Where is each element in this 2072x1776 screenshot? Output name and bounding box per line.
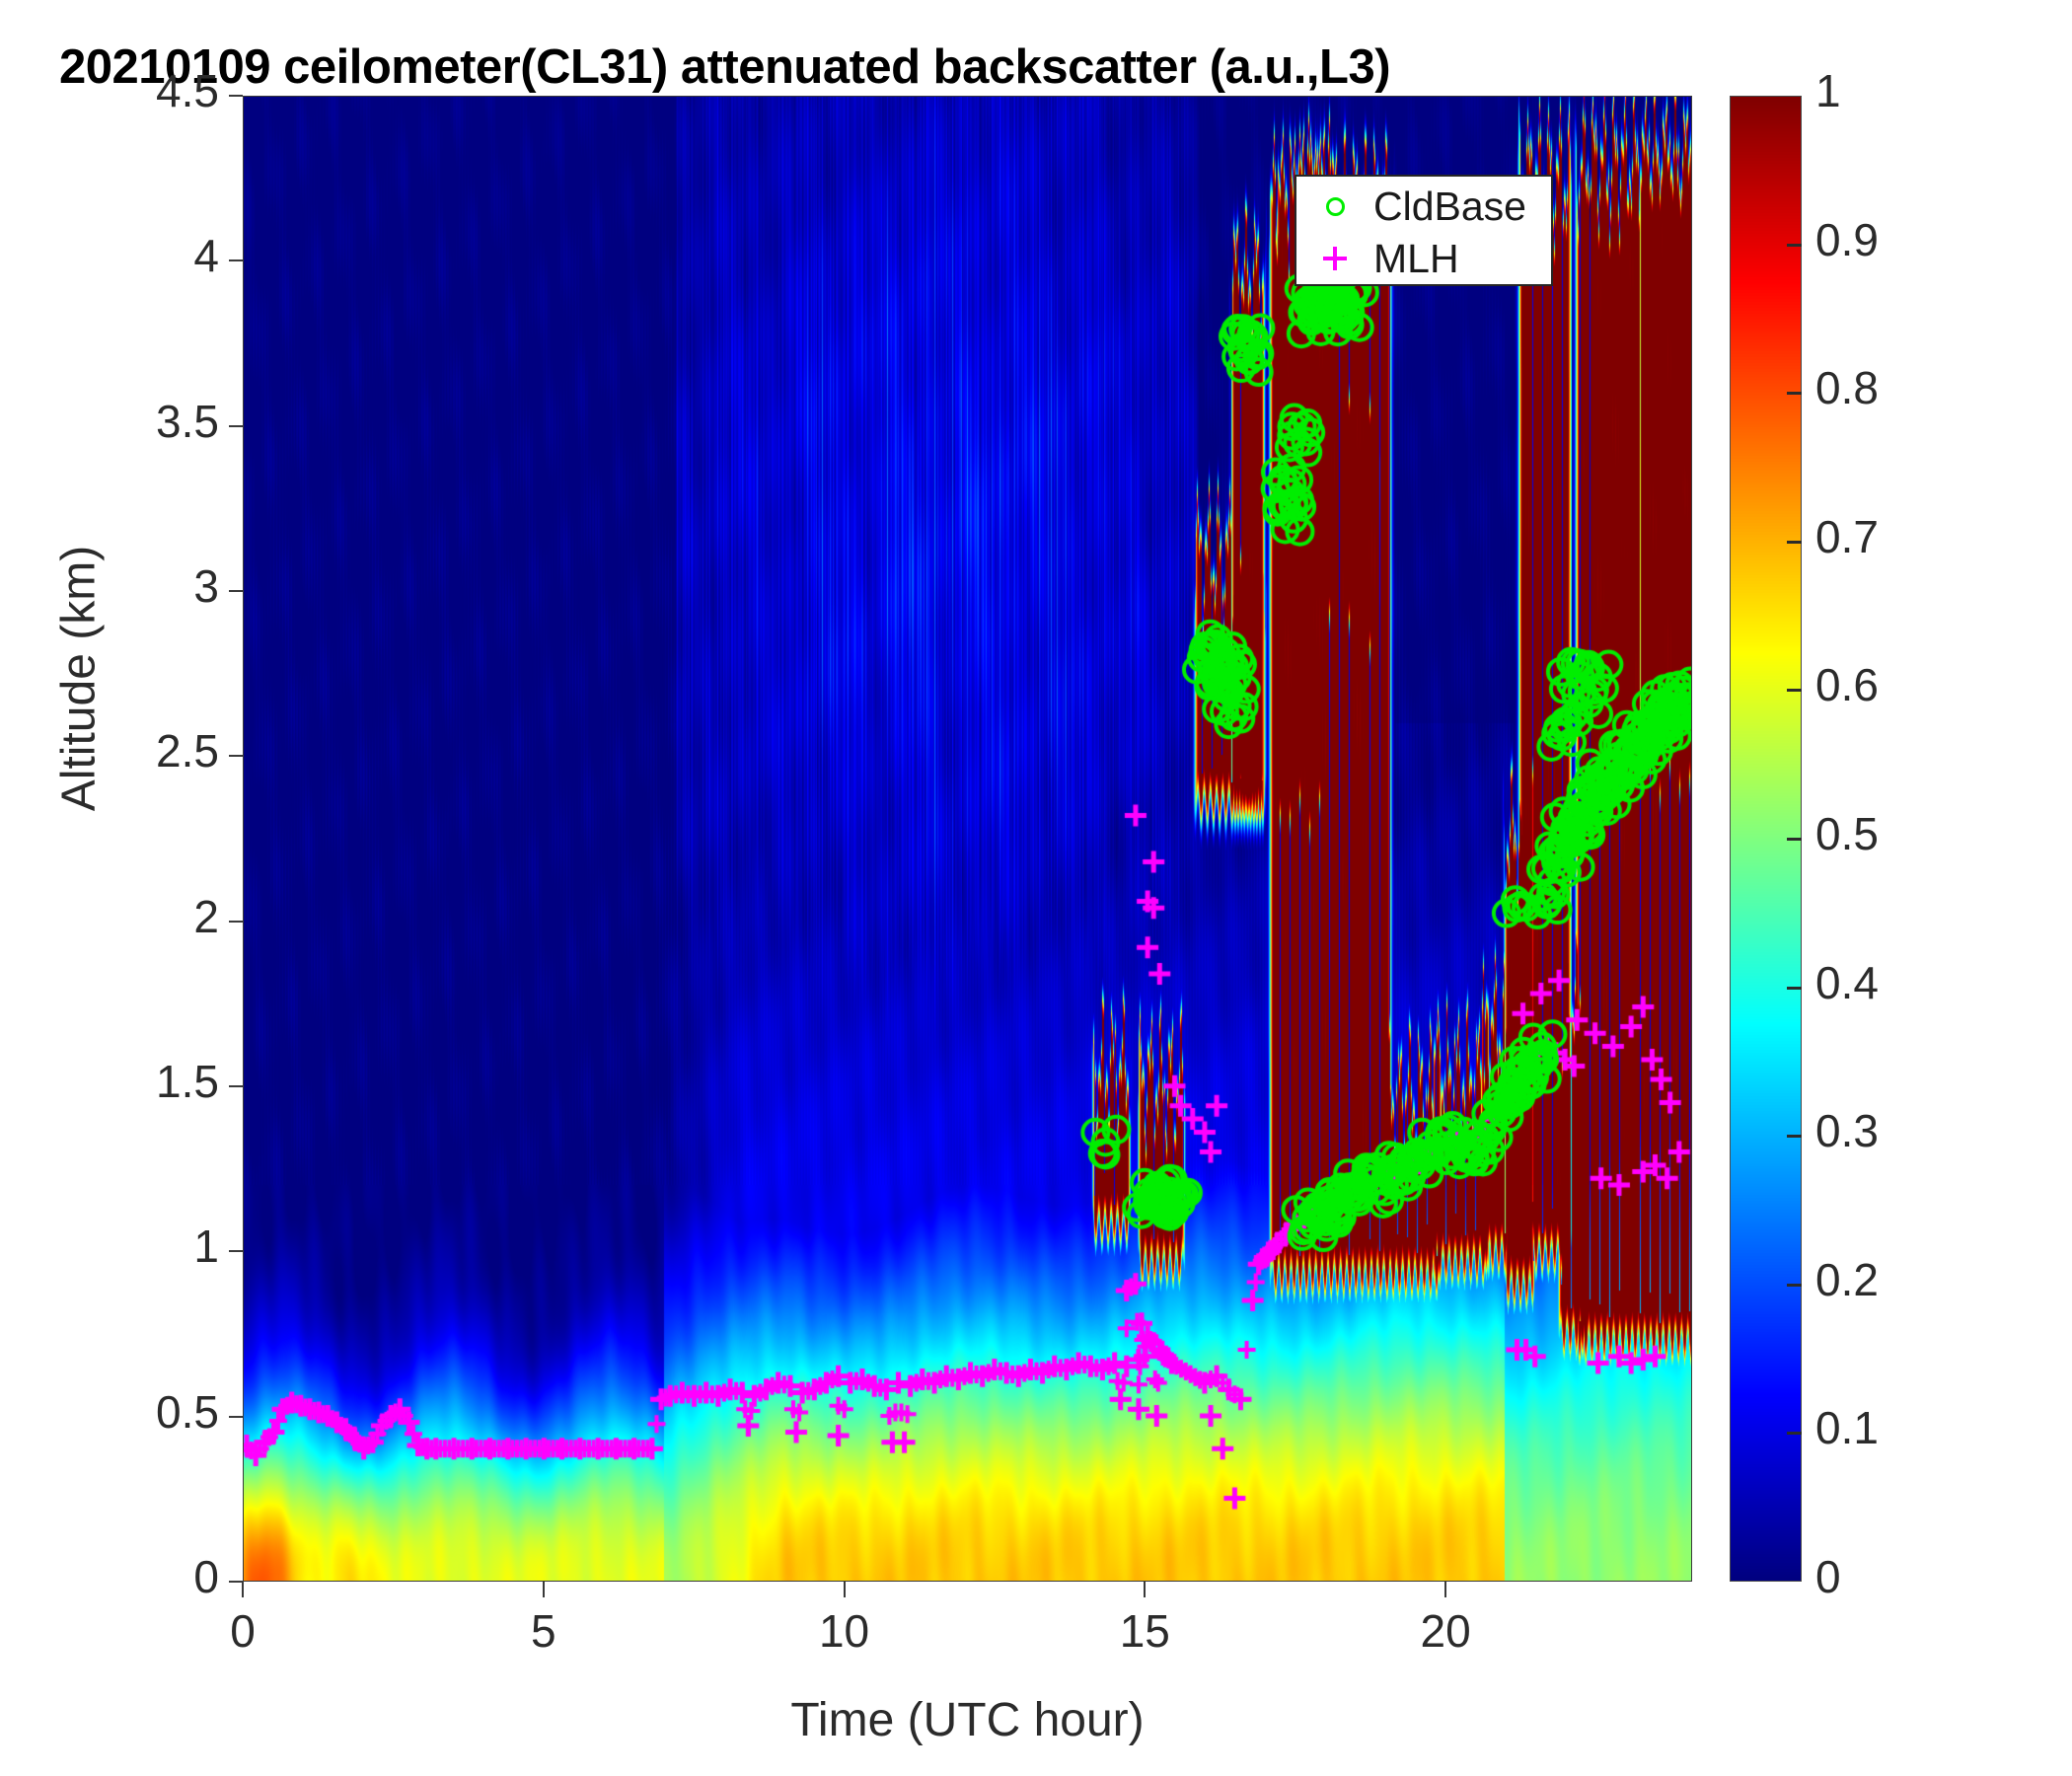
legend-item-mlh: MLH — [1296, 231, 1551, 286]
x-tick-label: 20 — [1367, 1604, 1524, 1658]
y-tick-label: 1 — [22, 1220, 219, 1273]
colorbar-tick-label: 0.3 — [1815, 1104, 1879, 1157]
y-tick-mark — [229, 1250, 243, 1252]
x-tick-mark — [543, 1582, 545, 1597]
mlh-marker-icon — [1296, 247, 1373, 270]
y-tick-mark — [229, 1581, 243, 1583]
colorbar-tick-label: 1 — [1815, 64, 1841, 117]
y-tick-mark — [229, 259, 243, 261]
x-tick-label: 10 — [766, 1604, 924, 1658]
legend-label-cldbase: CldBase — [1373, 184, 1526, 230]
y-tick-mark — [229, 1416, 243, 1418]
cldbase-mlh-overlay — [244, 97, 1691, 1581]
colorbar-tick-mark — [1787, 1135, 1802, 1138]
y-tick-mark — [229, 590, 243, 592]
x-tick-label: 15 — [1066, 1604, 1223, 1658]
y-tick-label: 0.5 — [22, 1385, 219, 1439]
x-tick-mark — [242, 1582, 244, 1597]
y-tick-mark — [229, 425, 243, 427]
y-tick-label: 4.5 — [22, 64, 219, 117]
x-tick-label: 5 — [465, 1604, 623, 1658]
y-tick-label: 1.5 — [22, 1055, 219, 1108]
colorbar-tick-mark — [1787, 1284, 1802, 1287]
x-axis-label: Time (UTC hour) — [243, 1693, 1692, 1747]
y-tick-mark — [229, 755, 243, 757]
x-tick-mark — [1144, 1582, 1146, 1597]
y-tick-label: 4 — [22, 229, 219, 282]
legend-item-cldbase: CldBase — [1296, 179, 1551, 234]
plot-area[interactable] — [243, 96, 1692, 1582]
colorbar-tick-mark — [1787, 541, 1802, 544]
colorbar-tick-mark — [1787, 244, 1802, 247]
colorbar-tick-label: 0.6 — [1815, 658, 1879, 711]
y-tick-label: 0 — [22, 1550, 219, 1603]
colorbar-tick-label: 0.9 — [1815, 213, 1879, 266]
y-axis-label: Altitude (km) — [52, 403, 107, 955]
cldbase-marker-icon — [1296, 197, 1373, 216]
x-tick-mark — [1444, 1582, 1446, 1597]
colorbar-tick-label: 0.8 — [1815, 361, 1879, 414]
x-tick-label: 0 — [164, 1604, 322, 1658]
colorbar-tick-mark — [1787, 1432, 1802, 1435]
colorbar-tick-label: 0.5 — [1815, 807, 1879, 860]
y-tick-mark — [229, 1085, 243, 1087]
legend: CldBase MLH — [1295, 175, 1553, 286]
ceilometer-backscatter-figure: 20210109 ceilometer(CL31) attenuated bac… — [0, 0, 2072, 1776]
colorbar-tick-label: 0 — [1815, 1550, 1841, 1603]
colorbar-tick-mark — [1787, 987, 1802, 990]
colorbar-tick-label: 0.1 — [1815, 1401, 1879, 1454]
colorbar-tick-label: 0.7 — [1815, 510, 1879, 563]
y-tick-mark — [229, 921, 243, 923]
page-title: 20210109 ceilometer(CL31) attenuated bac… — [59, 39, 1390, 95]
legend-label-mlh: MLH — [1373, 236, 1459, 282]
y-tick-mark — [229, 95, 243, 97]
colorbar-tick-label: 0.2 — [1815, 1253, 1879, 1306]
colorbar-tick-mark — [1787, 392, 1802, 395]
x-tick-mark — [844, 1582, 846, 1597]
colorbar-tick-mark — [1787, 689, 1802, 692]
colorbar-tick-label: 0.4 — [1815, 956, 1879, 1009]
colorbar-tick-mark — [1787, 838, 1802, 841]
